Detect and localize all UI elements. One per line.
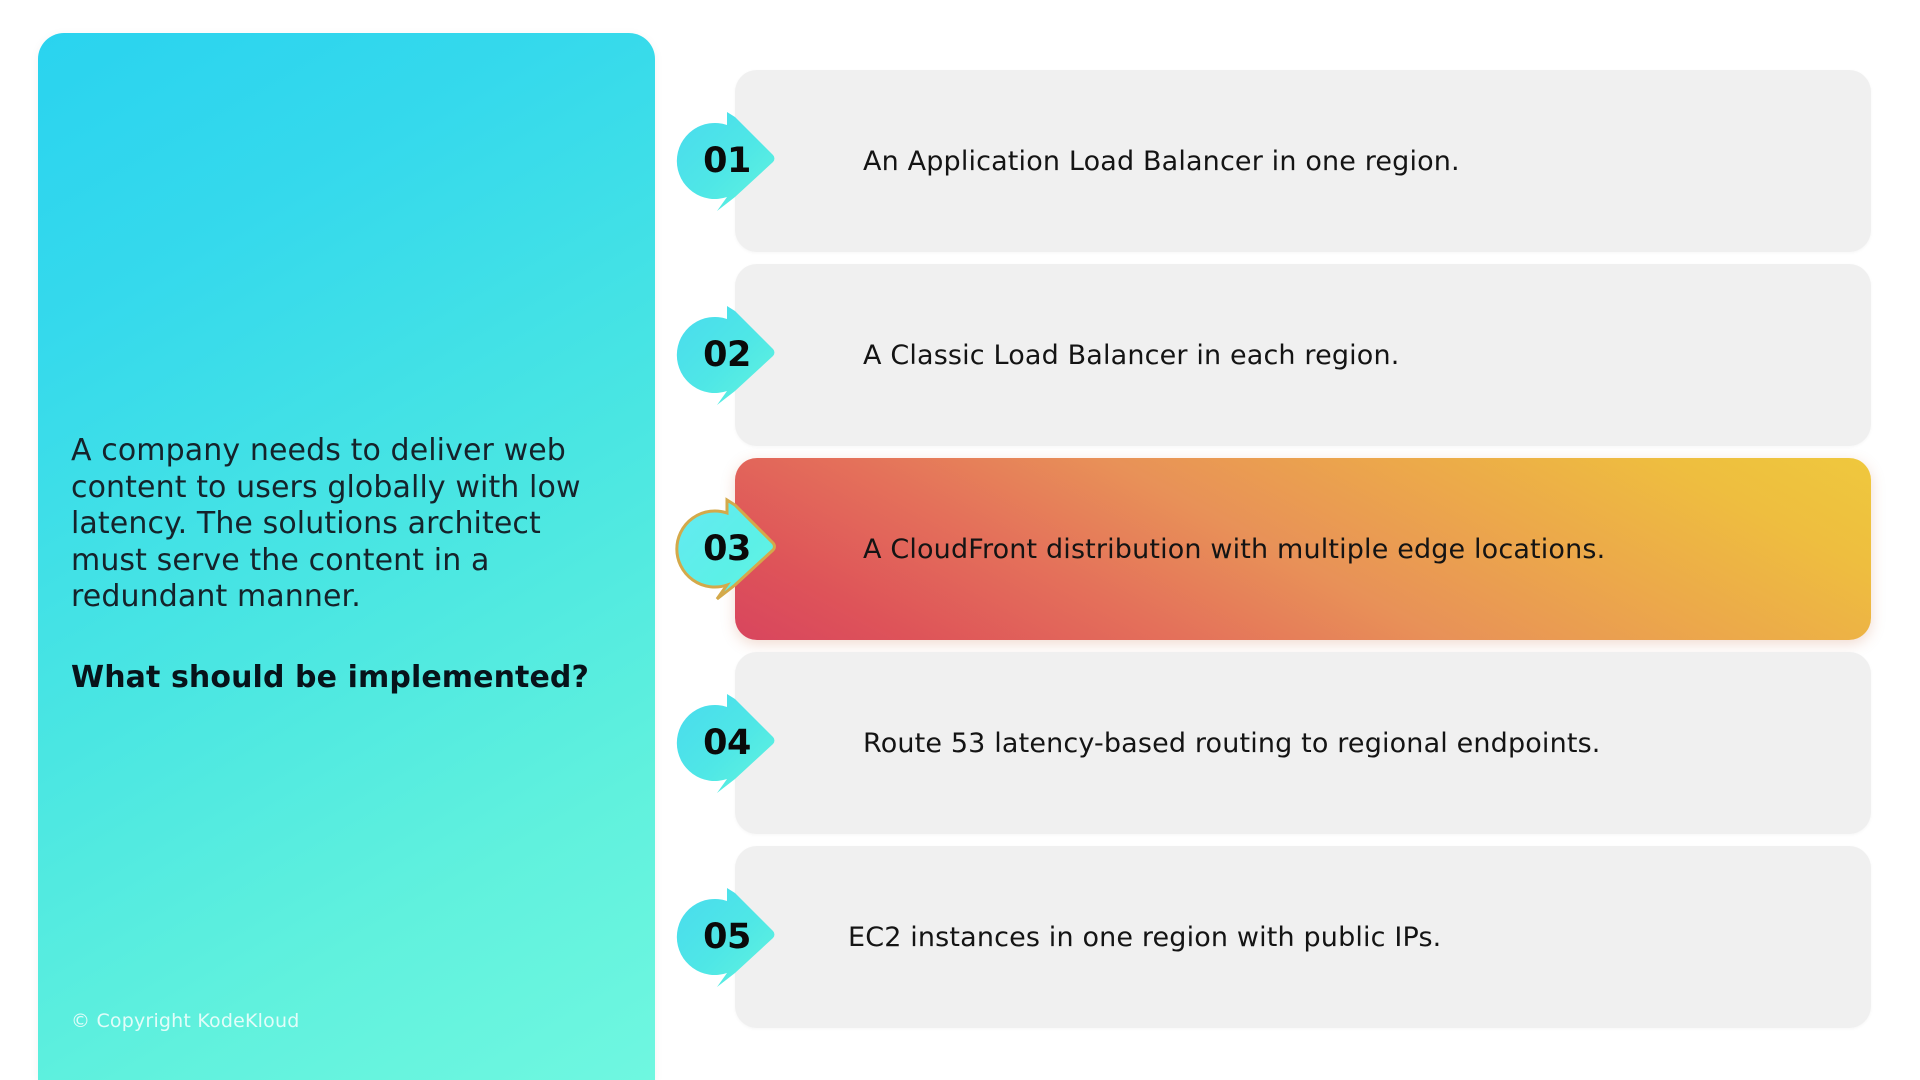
- option-number-label: 02: [688, 305, 766, 405]
- option-number-badge: 03: [688, 499, 788, 599]
- option-row[interactable]: 01 An Application Load Balancer in one r…: [735, 70, 1871, 252]
- option-number-label: 03: [688, 499, 766, 599]
- option-number-label: 01: [688, 111, 766, 211]
- option-text: A Classic Load Balancer in each region.: [863, 264, 1439, 446]
- option-number-badge: 04: [688, 693, 788, 793]
- option-number-badge: 05: [688, 887, 788, 987]
- option-row[interactable]: 05 EC2 instances in one region with publ…: [735, 846, 1871, 1028]
- option-text: An Application Load Balancer in one regi…: [863, 70, 1500, 252]
- option-text: Route 53 latency-based routing to region…: [863, 652, 1641, 834]
- options-list: 01 An Application Load Balancer in one r…: [735, 70, 1871, 1040]
- question-prompt-text: What should be implemented?: [71, 660, 616, 697]
- option-text: A CloudFront distribution with multiple …: [863, 458, 1645, 640]
- option-number-label: 05: [688, 887, 766, 987]
- question-scenario-text: A company needs to deliver web content t…: [71, 433, 616, 616]
- question-panel: A company needs to deliver web content t…: [38, 33, 655, 1080]
- copyright-notice: © Copyright KodeKloud: [71, 1010, 299, 1032]
- option-row-selected[interactable]: 03 A CloudFront distribution with multip…: [735, 458, 1871, 640]
- quiz-slide: A company needs to deliver web content t…: [0, 0, 1920, 1080]
- option-row[interactable]: 04 Route 53 latency-based routing to reg…: [735, 652, 1871, 834]
- option-text: EC2 instances in one region with public …: [848, 846, 1481, 1028]
- option-number-label: 04: [688, 693, 766, 793]
- option-number-badge: 01: [688, 111, 788, 211]
- question-body: A company needs to deliver web content t…: [71, 433, 616, 697]
- option-row[interactable]: 02 A Classic Load Balancer in each regio…: [735, 264, 1871, 446]
- option-number-badge: 02: [688, 305, 788, 405]
